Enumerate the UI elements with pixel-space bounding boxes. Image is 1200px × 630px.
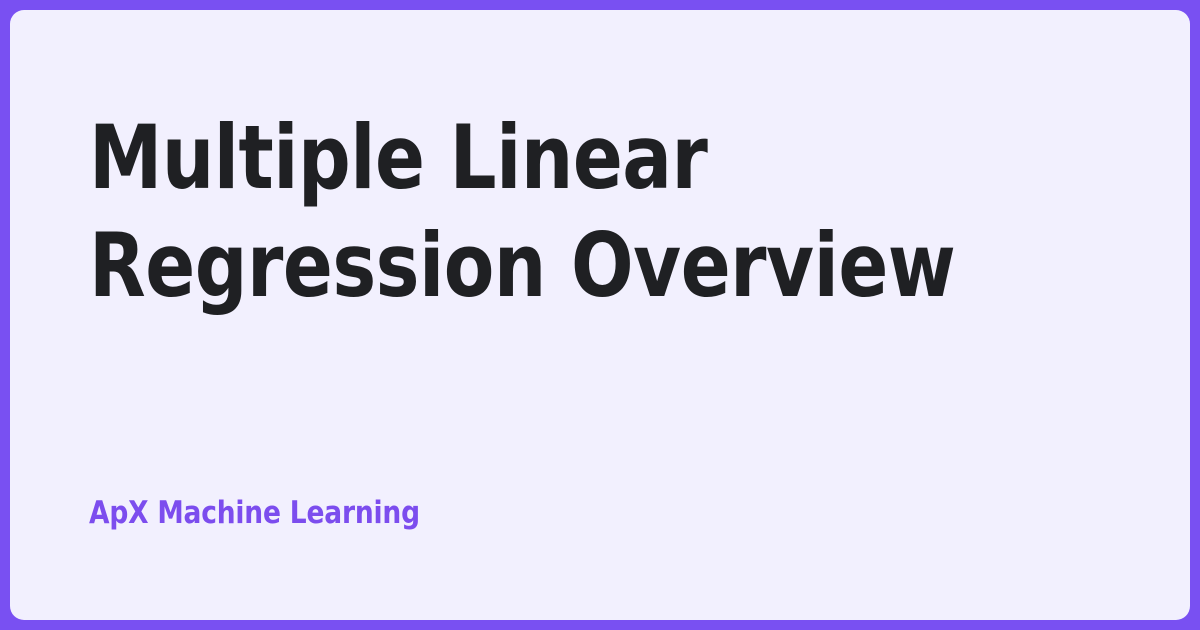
og-card-frame: Multiple Linear Regression Overview ApX … [0, 0, 1200, 630]
brand-name: ApX Machine Learning [89, 494, 420, 532]
title-block: Multiple Linear Regression Overview [89, 104, 1109, 320]
page-title: Multiple Linear Regression Overview [89, 104, 1038, 320]
brand-block: ApX Machine Learning [89, 494, 437, 532]
og-card-canvas: Multiple Linear Regression Overview ApX … [10, 10, 1190, 620]
